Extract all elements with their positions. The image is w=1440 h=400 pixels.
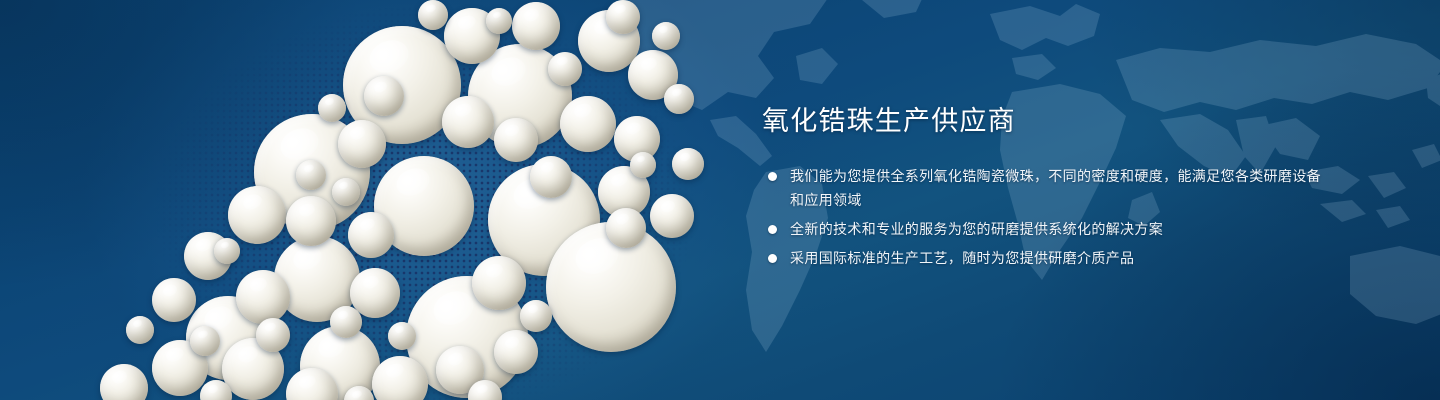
feature-list-item: 全新的技术和专业的服务为您的研磨提供系统化的解决方案 (762, 217, 1322, 241)
feature-list: 我们能为您提供全系列氧化锆陶瓷微珠，不同的密度和硬度，能满足您各类研磨设备和应用… (762, 164, 1322, 270)
feature-list-item: 采用国际标准的生产工艺，随时为您提供研磨介质产品 (762, 246, 1322, 270)
hero-banner: 氧化锆珠生产供应商 我们能为您提供全系列氧化锆陶瓷微珠，不同的密度和硬度，能满足… (0, 0, 1440, 400)
feature-text: 我们能为您提供全系列氧化锆陶瓷微珠，不同的密度和硬度，能满足您各类研磨设备和应用… (790, 164, 1322, 212)
feature-text: 全新的技术和专业的服务为您的研磨提供系统化的解决方案 (790, 217, 1322, 241)
banner-content: 氧化锆珠生产供应商 我们能为您提供全系列氧化锆陶瓷微珠，不同的密度和硬度，能满足… (762, 104, 1322, 275)
bullet-dot-icon (768, 172, 777, 181)
feature-text: 采用国际标准的生产工艺，随时为您提供研磨介质产品 (790, 246, 1322, 270)
bullet-dot-icon (768, 254, 777, 263)
banner-headline: 氧化锆珠生产供应商 (762, 104, 1322, 138)
halftone-texture (95, 0, 735, 400)
bullet-dot-icon (768, 225, 777, 234)
feature-list-item: 我们能为您提供全系列氧化锆陶瓷微珠，不同的密度和硬度，能满足您各类研磨设备和应用… (762, 164, 1322, 212)
